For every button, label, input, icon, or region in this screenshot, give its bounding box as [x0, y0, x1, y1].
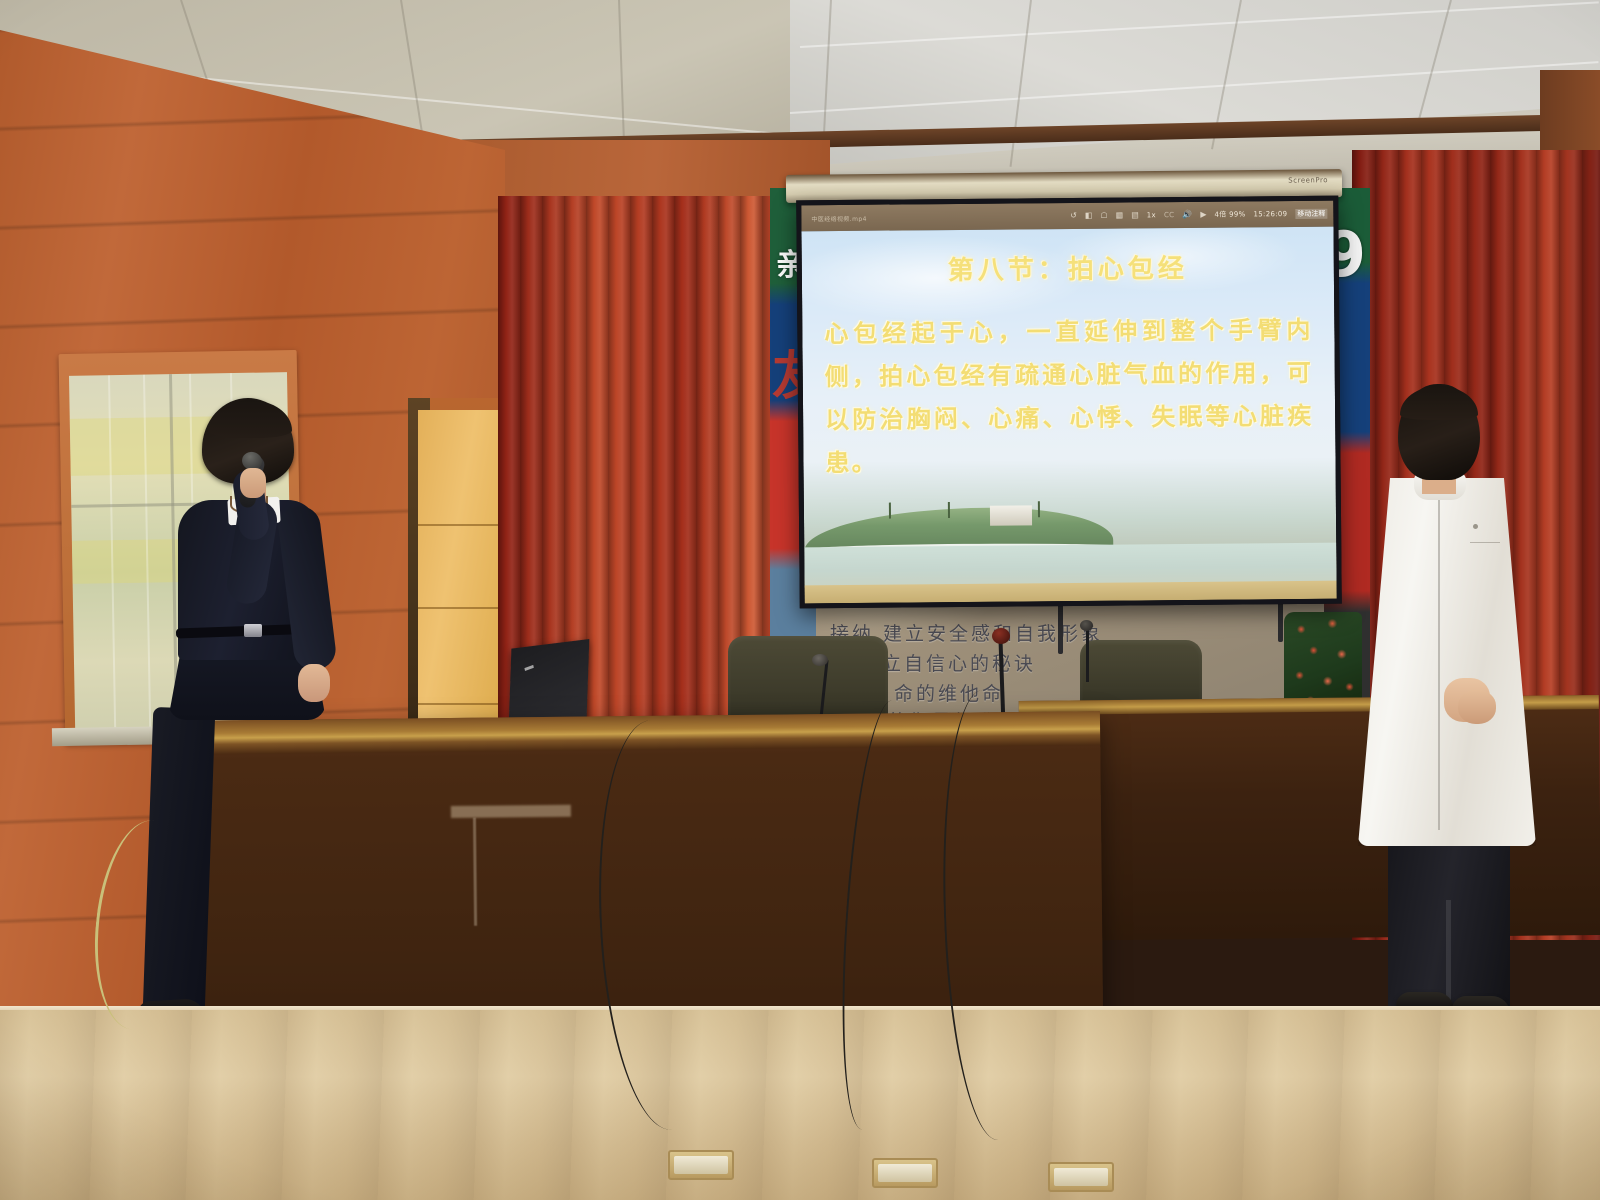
mic-capsule-center [992, 628, 1010, 644]
slide-building [990, 505, 1032, 525]
assistant-hand-overlap [1458, 690, 1496, 724]
floor-outlet[interactable] [668, 1150, 734, 1180]
slide-body-text: 心包经起于心，一直延伸到整个手臂内侧，拍心包经有疏通心脏气血的作用，可以防治胸闷… [824, 309, 1313, 485]
ratio-label: CC [1164, 211, 1174, 219]
assistant-coat-pocket [1470, 528, 1500, 543]
floor-outlet-face [1054, 1168, 1108, 1186]
speaker-belt-buckle [244, 624, 262, 637]
assistant-coat-placket [1438, 500, 1440, 830]
refresh-icon[interactable]: ↺ [1070, 212, 1077, 220]
clock-label: 15:26:09 [1253, 210, 1287, 218]
podium-paint-drip [473, 818, 477, 926]
laptop[interactable] [509, 639, 590, 727]
grid-icon[interactable]: ▦ [1116, 212, 1124, 220]
podium-scuff-mark [451, 805, 571, 818]
floor-outlet-face [878, 1164, 932, 1182]
speaker-icon[interactable]: 🔊 [1182, 211, 1192, 219]
slide-palm-tree [889, 503, 891, 519]
slide-title: 第八节：拍心包经 [802, 247, 1334, 289]
play-icon[interactable]: ▶ [1200, 211, 1206, 219]
screen-brand-label: ScreenPro [1288, 176, 1328, 184]
laptop-logo [524, 665, 533, 671]
slide-palm-tree [947, 502, 949, 518]
flower-arrangement [1284, 612, 1362, 708]
floor-outlet-face [674, 1156, 728, 1174]
floor-outlet[interactable] [1048, 1162, 1114, 1192]
auditorium-photo: 亲 友 9 接纳 建立安全感和自我形象 立自信心的秘诀 命的维他命 的衡量标准 … [0, 0, 1600, 1200]
door-panel-line [418, 703, 510, 705]
door-panel-line [418, 524, 510, 526]
slide-sand [805, 581, 1337, 604]
stage-floor [0, 1010, 1600, 1200]
presentation-slide: 第八节：拍心包经 心包经起于心，一直延伸到整个手臂内侧，拍心包经有疏通心脏气血的… [802, 227, 1337, 604]
home-icon[interactable]: ☖ [1100, 212, 1107, 220]
door-panel-line [418, 607, 510, 609]
zoom-level-label: 1x [1147, 211, 1156, 219]
mic-capsule-right [1080, 620, 1093, 631]
annotation-button[interactable]: 移动注释 [1295, 209, 1327, 219]
projection-screen: 中医经络视频.mp4 ↺ ◧ ☖ ▦ ▤ 1x CC 🔊 ▶ 4倍 99% 15… [796, 196, 1342, 609]
mic-capsule-left [812, 654, 828, 666]
floor-outlet[interactable] [872, 1158, 938, 1188]
player-window-title: 中医经络视频.mp4 [811, 213, 866, 222]
expand-icon[interactable]: ◧ [1085, 212, 1093, 220]
gooseneck-mic-right [1086, 626, 1089, 682]
player-icon-group[interactable]: ↺ ◧ ☖ ▦ ▤ 1x CC 🔊 ▶ 4倍 99% 15:26:09 移动注释 [1070, 209, 1333, 221]
assistant-coat-emblem-icon [1473, 524, 1478, 529]
wooden-door[interactable] [418, 410, 510, 728]
slide-palm-tree [1038, 501, 1040, 517]
speaker-right-hand [240, 468, 266, 498]
speaker-left-hand [298, 664, 330, 702]
list-icon[interactable]: ▤ [1131, 211, 1139, 219]
volume-label: 4倍 99% [1214, 209, 1245, 219]
